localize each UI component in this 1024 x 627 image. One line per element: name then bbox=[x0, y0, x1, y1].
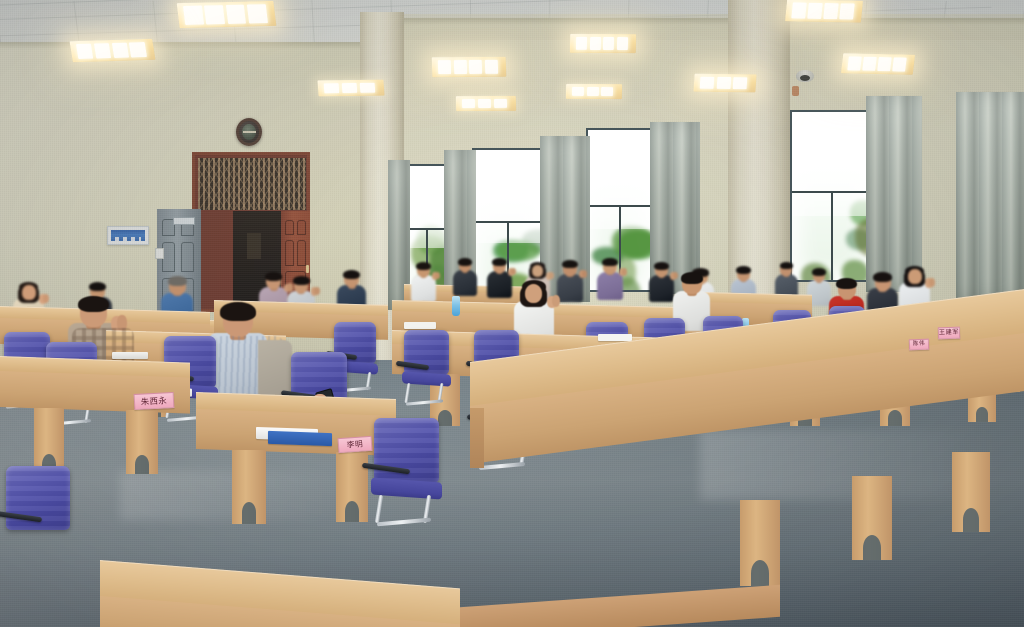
name-card-3: 王建军 bbox=[938, 327, 960, 340]
name-card-text: 朱西永 bbox=[141, 396, 168, 406]
name-card-layer: 朱西永李明王建军陈伟 bbox=[0, 0, 1024, 627]
name-card-1: 朱西永 bbox=[134, 392, 175, 410]
name-card-text: 陈伟 bbox=[913, 341, 926, 347]
conference-room-photo: 朱西永李明王建军陈伟 bbox=[0, 0, 1024, 627]
name-card-4: 陈伟 bbox=[909, 339, 929, 351]
name-card-text: 李明 bbox=[346, 440, 363, 449]
name-card-2: 李明 bbox=[338, 436, 373, 453]
name-card-text: 王建军 bbox=[939, 330, 959, 337]
